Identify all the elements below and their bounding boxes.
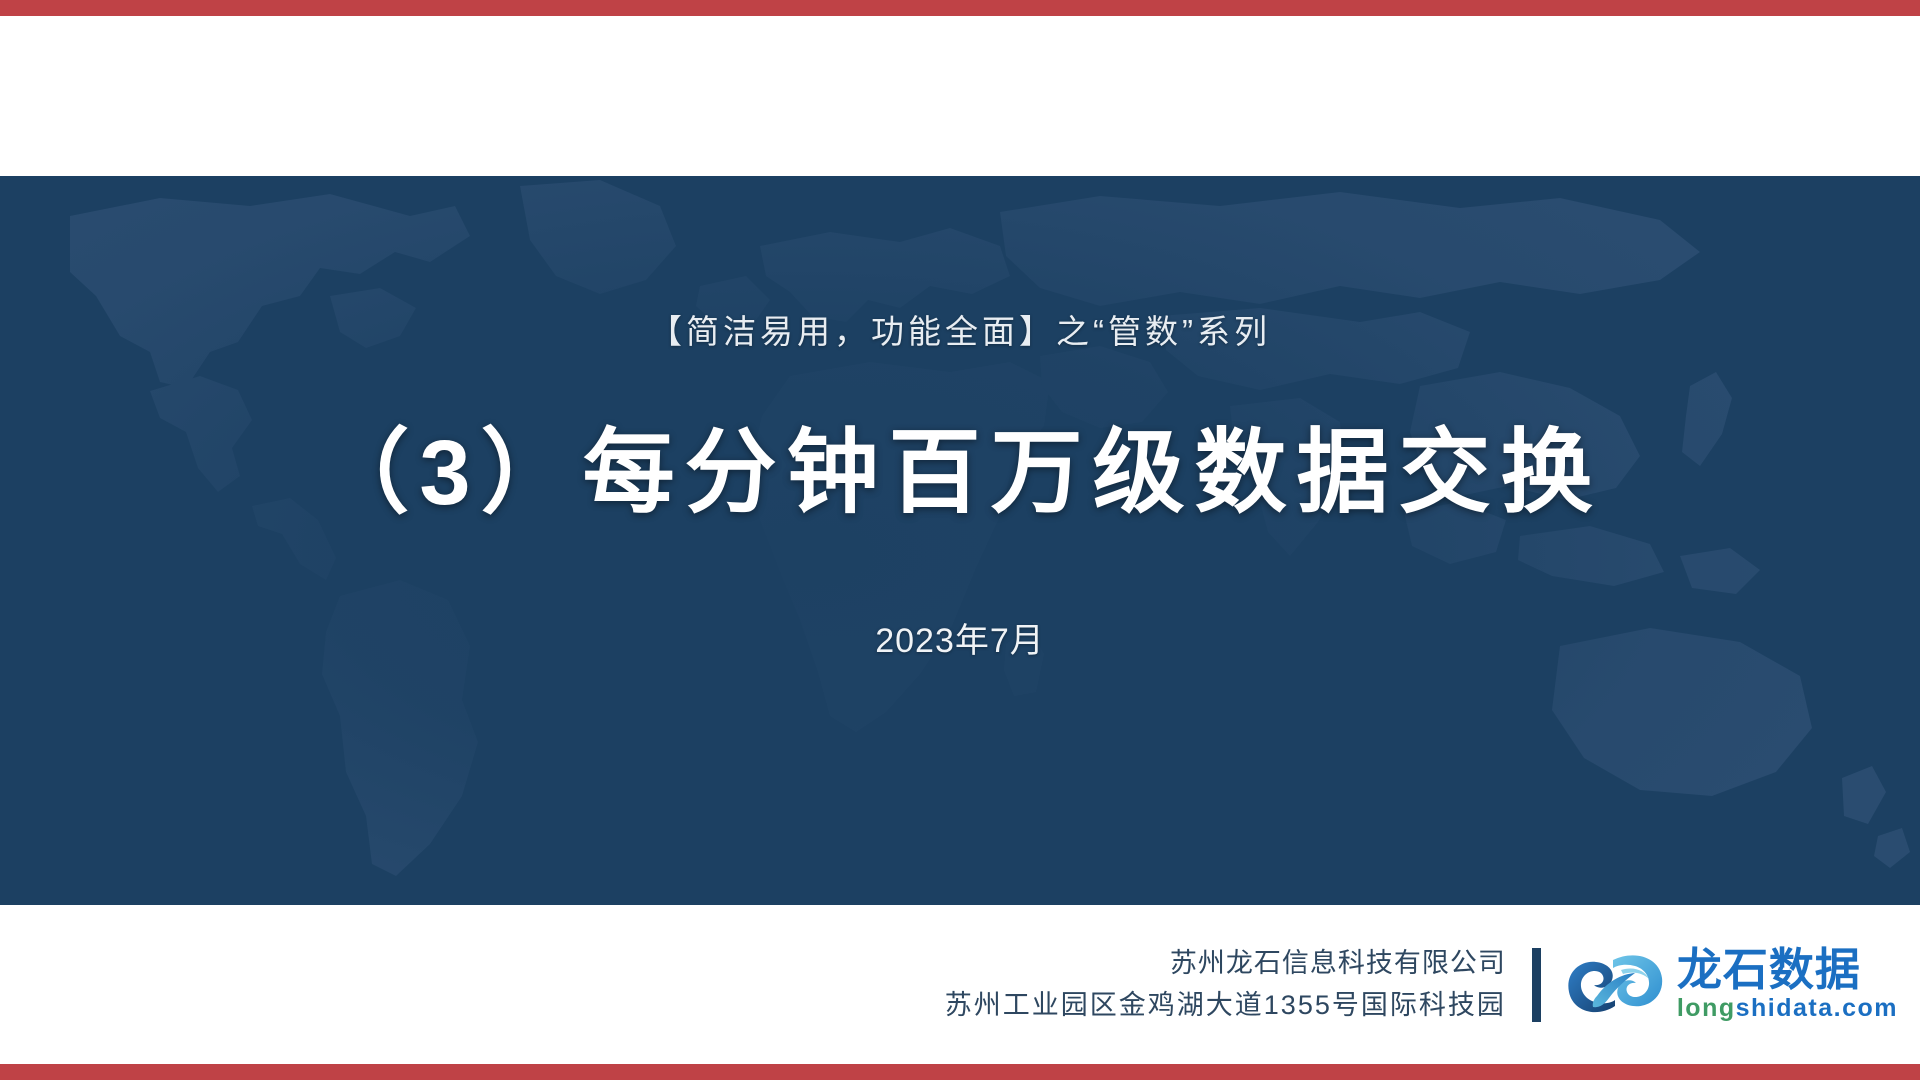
logo-url-green: long <box>1677 994 1736 1022</box>
company-info: 苏州龙石信息科技有限公司 苏州工业园区金鸡湖大道1355号国际科技园 <box>945 943 1506 1027</box>
logo-wordmark: 龙石数据 longshidata.com <box>1677 947 1898 1022</box>
footer-divider <box>1532 948 1541 1022</box>
logo-brand-name: 龙石数据 <box>1677 947 1861 993</box>
company-address: 苏州工业园区金鸡湖大道1355号国际科技园 <box>945 985 1506 1027</box>
slide-date: 2023年7月 <box>875 613 1045 662</box>
slide-subtitle: 【简洁易用，功能全面】之“管数”系列 <box>649 305 1271 353</box>
top-accent-bar <box>0 0 1920 16</box>
bottom-accent-bar <box>0 1064 1920 1080</box>
slide-canvas: 【简洁易用，功能全面】之“管数”系列 （3）每分钟百万级数据交换 2023年7月… <box>0 0 1920 1080</box>
logo-url-blue: shidata.com <box>1736 994 1898 1022</box>
slide-title: （3）每分钟百万级数据交换 <box>317 425 1602 523</box>
footer-bar: 苏州龙石信息科技有限公司 苏州工业园区金鸡湖大道1355号国际科技园 <box>0 905 1920 1064</box>
company-name: 苏州龙石信息科技有限公司 <box>1170 943 1506 985</box>
logo-url: longshidata.com <box>1677 995 1898 1023</box>
infinity-swirl-logo-mark-icon <box>1563 946 1667 1024</box>
brand-logo[interactable]: 龙石数据 longshidata.com <box>1563 946 1898 1024</box>
hero-text-block: 【简洁易用，功能全面】之“管数”系列 （3）每分钟百万级数据交换 2023年7月 <box>0 176 1920 905</box>
hero-panel: 【简洁易用，功能全面】之“管数”系列 （3）每分钟百万级数据交换 2023年7月 <box>0 176 1920 905</box>
